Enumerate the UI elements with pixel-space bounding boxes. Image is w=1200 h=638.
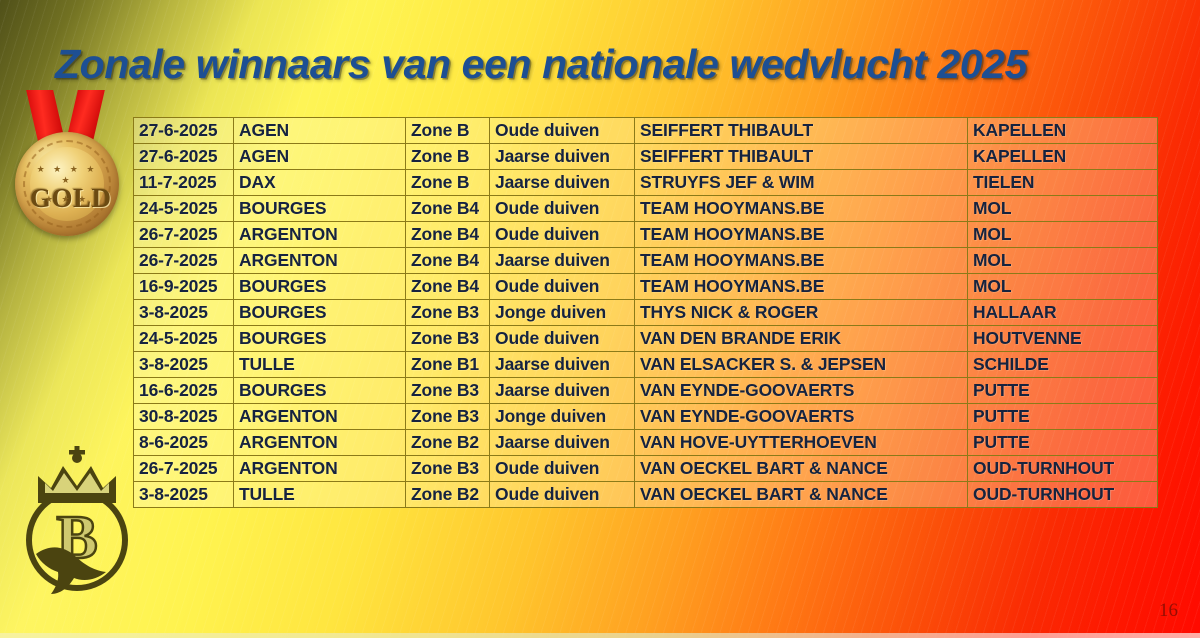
cell-type: Oude duiven [490,118,635,144]
cell-zone: Zone B3 [406,326,490,352]
cell-club: PUTTE [968,404,1158,430]
table-row: 24-5-2025BOURGESZone B4Oude duivenTEAM H… [134,196,1158,222]
cell-name: TEAM HOOYMANS.BE [635,274,968,300]
cell-name: VAN HOVE-UYTTERHOEVEN [635,430,968,456]
cell-zone: Zone B [406,144,490,170]
cell-city: BOURGES [234,378,406,404]
cell-zone: Zone B3 [406,404,490,430]
cell-zone: Zone B4 [406,274,490,300]
table-row: 3-8-2025BOURGESZone B3Jonge duivenTHYS N… [134,300,1158,326]
cell-date: 3-8-2025 [134,352,234,378]
cell-zone: Zone B3 [406,300,490,326]
table-row: 24-5-2025BOURGESZone B3Oude duivenVAN DE… [134,326,1158,352]
cell-type: Jaarse duiven [490,430,635,456]
cell-city: BOURGES [234,274,406,300]
cell-club: PUTTE [968,430,1158,456]
cell-type: Oude duiven [490,274,635,300]
table-row: 26-7-2025ARGENTONZone B4Jaarse duivenTEA… [134,248,1158,274]
table-row: 11-7-2025DAXZone BJaarse duivenSTRUYFS J… [134,170,1158,196]
cell-zone: Zone B3 [406,456,490,482]
cell-date: 30-8-2025 [134,404,234,430]
cell-club: MOL [968,196,1158,222]
table-row: 27-6-2025AGENZone BJaarse duivenSEIFFERT… [134,144,1158,170]
cell-club: PUTTE [968,378,1158,404]
cell-club: KAPELLEN [968,118,1158,144]
cell-type: Jaarse duiven [490,352,635,378]
gold-medal-icon: ★ ★ ★ ★ ★ GOLD ★ ★ ★ [8,88,126,248]
cell-city: BOURGES [234,300,406,326]
cell-club: MOL [968,248,1158,274]
winners-table: 27-6-2025AGENZone BOude duivenSEIFFERT T… [133,117,1158,508]
cell-city: ARGENTON [234,430,406,456]
cell-date: 26-7-2025 [134,456,234,482]
cell-date: 24-5-2025 [134,326,234,352]
cell-zone: Zone B2 [406,482,490,508]
cell-city: ARGENTON [234,222,406,248]
cell-club: HALLAAR [968,300,1158,326]
cell-type: Oude duiven [490,222,635,248]
cell-type: Oude duiven [490,326,635,352]
cell-date: 27-6-2025 [134,144,234,170]
medal-disc: ★ ★ ★ ★ ★ GOLD ★ ★ ★ [15,132,119,236]
cell-city: AGEN [234,144,406,170]
cell-club: MOL [968,274,1158,300]
table-row: 3-8-2025TULLEZone B1Jaarse duivenVAN ELS… [134,352,1158,378]
cell-type: Jaarse duiven [490,248,635,274]
cell-zone: Zone B [406,170,490,196]
cell-zone: Zone B4 [406,196,490,222]
cell-type: Jaarse duiven [490,144,635,170]
medal-inner-face: ★ ★ ★ ★ ★ GOLD ★ ★ ★ [30,147,104,221]
cell-zone: Zone B [406,118,490,144]
cell-name: VAN OECKEL BART & NANCE [635,482,968,508]
cell-type: Jonge duiven [490,300,635,326]
cell-city: DAX [234,170,406,196]
cell-name: SEIFFERT THIBAULT [635,144,968,170]
cell-type: Jonge duiven [490,404,635,430]
cell-zone: Zone B1 [406,352,490,378]
cell-name: STRUYFS JEF & WIM [635,170,968,196]
table-row: 8-6-2025ARGENTONZone B2Jaarse duivenVAN … [134,430,1158,456]
cell-zone: Zone B4 [406,248,490,274]
cell-club: TIELEN [968,170,1158,196]
cell-club: OUD-TURNHOUT [968,456,1158,482]
page-title: Zonale winnaars van een nationale wedvlu… [55,41,1155,88]
cell-date: 11-7-2025 [134,170,234,196]
cell-name: VAN OECKEL BART & NANCE [635,456,968,482]
table-row: 27-6-2025AGENZone BOude duivenSEIFFERT T… [134,118,1158,144]
cell-date: 26-7-2025 [134,248,234,274]
cell-city: BOURGES [234,326,406,352]
table-row: 30-8-2025ARGENTONZone B3Jonge duivenVAN … [134,404,1158,430]
cell-date: 16-6-2025 [134,378,234,404]
cell-name: VAN DEN BRANDE ERIK [635,326,968,352]
slide-canvas: Zonale winnaars van een nationale wedvlu… [0,0,1200,638]
table-row: 16-9-2025BOURGESZone B4Oude duivenTEAM H… [134,274,1158,300]
cell-date: 3-8-2025 [134,300,234,326]
cell-city: ARGENTON [234,404,406,430]
table-row: 16-6-2025BOURGESZone B3Jaarse duivenVAN … [134,378,1158,404]
medal-stars-bottom: ★ ★ ★ [30,194,104,205]
cell-name: VAN ELSACKER S. & JEPSEN [635,352,968,378]
table-row: 26-7-2025ARGENTONZone B4Oude duivenTEAM … [134,222,1158,248]
cell-club: HOUTVENNE [968,326,1158,352]
cell-city: ARGENTON [234,248,406,274]
cell-type: Jaarse duiven [490,170,635,196]
table-row: 26-7-2025ARGENTONZone B3Oude duivenVAN O… [134,456,1158,482]
cell-date: 3-8-2025 [134,482,234,508]
cell-city: TULLE [234,352,406,378]
cell-date: 27-6-2025 [134,118,234,144]
cell-type: Oude duiven [490,196,635,222]
bottom-strip [0,633,1200,638]
cell-name: THYS NICK & ROGER [635,300,968,326]
cell-zone: Zone B4 [406,222,490,248]
cell-date: 16-9-2025 [134,274,234,300]
cell-type: Jaarse duiven [490,378,635,404]
cell-name: VAN EYNDE-GOOVAERTS [635,404,968,430]
cell-name: VAN EYNDE-GOOVAERTS [635,378,968,404]
page-number: 16 [1159,600,1178,622]
cell-city: TULLE [234,482,406,508]
cell-city: ARGENTON [234,456,406,482]
cell-name: SEIFFERT THIBAULT [635,118,968,144]
cell-name: TEAM HOOYMANS.BE [635,248,968,274]
cell-club: SCHILDE [968,352,1158,378]
cell-zone: Zone B2 [406,430,490,456]
cell-city: BOURGES [234,196,406,222]
cell-type: Oude duiven [490,456,635,482]
cell-date: 8-6-2025 [134,430,234,456]
table-row: 3-8-2025TULLEZone B2Oude duivenVAN OECKE… [134,482,1158,508]
cell-date: 24-5-2025 [134,196,234,222]
winners-table-body: 27-6-2025AGENZone BOude duivenSEIFFERT T… [134,118,1158,508]
kbdb-pigeon-logo-icon: B [18,436,136,598]
cell-date: 26-7-2025 [134,222,234,248]
cell-city: AGEN [234,118,406,144]
cell-name: TEAM HOOYMANS.BE [635,222,968,248]
cell-club: KAPELLEN [968,144,1158,170]
cell-type: Oude duiven [490,482,635,508]
cell-zone: Zone B3 [406,378,490,404]
cell-club: MOL [968,222,1158,248]
cell-club: OUD-TURNHOUT [968,482,1158,508]
cell-name: TEAM HOOYMANS.BE [635,196,968,222]
